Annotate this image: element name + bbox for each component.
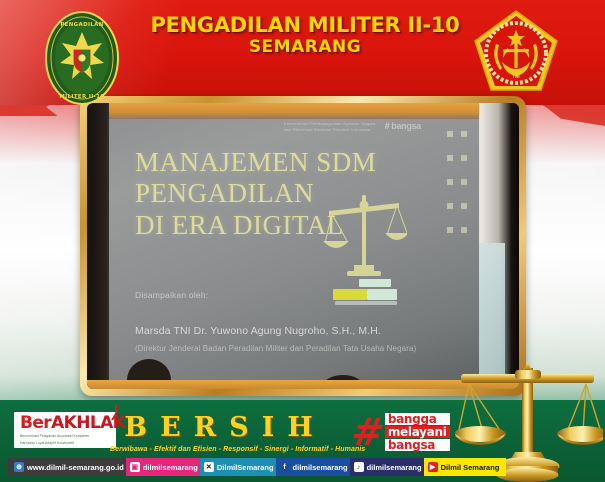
bangga-line-1: bangga (385, 413, 450, 425)
book (359, 279, 391, 287)
page-subtitle: SEMARANG (120, 37, 490, 57)
slide-title-line-1: MANAJEMEN SDM (135, 147, 376, 178)
social-label-youtube: Dilmil Semarang (441, 463, 500, 472)
projection-screen: Kementerian Pendayagunaan Aparatur Negar… (109, 103, 479, 389)
book (367, 289, 397, 300)
page-title: PENGADILAN MILITER II-10 (120, 14, 490, 36)
youtube-icon: ▶ (428, 462, 438, 472)
berakhlak-logo: ⟩ BerAKHLAK Berorientasi Pelayanan Akunt… (14, 412, 116, 448)
social-link-tiktok[interactable]: ♪ dilmilsemarang (350, 458, 431, 476)
berakhlak-tagline-line2: Harmonis Loyal Adaptif Kolaboratif (20, 441, 110, 446)
dot (447, 131, 453, 137)
dot (461, 203, 467, 209)
dot (461, 227, 467, 233)
dot (461, 155, 467, 161)
poster-canvas: PENGADILAN MILITER II-10 SEMARANG PENGAD… (0, 0, 605, 482)
svg-text:MILITER II-10: MILITER II-10 (59, 94, 104, 100)
bangga-line-2: melayani (385, 426, 450, 438)
dot (447, 203, 453, 209)
dot (461, 179, 467, 185)
berakhlak-word-part1: Ber (20, 413, 51, 433)
photo-frame: Kementerian Pendayagunaan Aparatur Negar… (80, 96, 526, 396)
svg-text:TNI: TNI (512, 74, 520, 79)
dot (447, 155, 453, 161)
event-photo: Kementerian Pendayagunaan Aparatur Negar… (87, 103, 519, 389)
social-label-instagram: dilmilsemarang (143, 463, 198, 472)
facebook-icon: f (280, 462, 290, 472)
dot (447, 227, 453, 233)
dot (461, 131, 467, 137)
x-icon: ✕ (204, 462, 214, 472)
social-label-tiktok: dilmilsemarang (367, 463, 422, 472)
social-link-website[interactable]: ⊕ www.dilmil-semarang.go.id (8, 458, 133, 476)
slide-speaker-role: (Direktur Jenderal Badan Peradilan Milit… (135, 344, 416, 353)
slide-dot-pattern (447, 131, 473, 251)
slide-top-tagline-line2: dan Reformasi Birokrasi Republik Indones… (284, 127, 376, 133)
social-label-website: www.dilmil-semarang.go.id (27, 463, 124, 472)
social-label-facebook: dilmilsemarang (293, 463, 348, 472)
slide-bangga-logo: #bangsa (385, 121, 421, 131)
header-title-block: PENGADILAN MILITER II-10 SEMARANG (120, 14, 490, 57)
social-media-bar: ⊕ www.dilmil-semarang.go.id ▣ dilmilsema… (8, 458, 499, 476)
globe-icon: ⊕ (14, 462, 24, 472)
social-link-facebook[interactable]: f dilmilsemarang (276, 458, 357, 476)
bersih-word: BERSIH (110, 414, 340, 441)
bersih-tagline: Berwibawa - Efektif dan Efisien - Respon… (110, 446, 340, 453)
bangga-melayani-bangsa-logo: # bangga melayani bangsa (352, 408, 460, 456)
slide-books-graphic (331, 279, 415, 319)
slide-scales-icon (321, 181, 407, 291)
slide-bangga-text: bangsa (391, 121, 421, 131)
pengadilan-militer-emblem: PENGADILAN MILITER II-10 (44, 10, 120, 106)
book (335, 301, 397, 305)
social-link-x-twitter[interactable]: ✕ DilmilSemarang (200, 458, 283, 476)
bersih-motto: BERSIH Berwibawa - Efektif dan Efisien -… (110, 414, 340, 453)
bangga-line-3: bangsa (385, 439, 450, 451)
slide-speaker-name: Marsda TNI Dr. Yuwono Agung Nugroho, S.H… (135, 325, 381, 337)
tiktok-icon: ♪ (354, 462, 364, 472)
social-link-youtube[interactable]: ▶ Dilmil Semarang (424, 458, 507, 476)
bangga-hash-icon: # (349, 413, 388, 451)
screen-top-band (109, 103, 479, 119)
book (333, 289, 367, 300)
social-label-x-twitter: DilmilSemarang (217, 463, 274, 472)
instagram-icon: ▣ (130, 462, 140, 472)
slide-byline-label: Disampaikan oleh: (135, 290, 208, 300)
social-link-instagram[interactable]: ▣ dilmilsemarang (126, 458, 207, 476)
dot (447, 179, 453, 185)
slide-bangga-hash: # (385, 121, 390, 131)
svg-text:PENGADILAN: PENGADILAN (60, 22, 103, 28)
slide-top-tagline: Kementerian Pendayagunaan Aparatur Negar… (284, 121, 376, 133)
berakhlak-tagline-line1: Berorientasi Pelayanan Akuntabel Kompete… (20, 434, 110, 439)
tni-emblem: TNI (472, 8, 560, 108)
